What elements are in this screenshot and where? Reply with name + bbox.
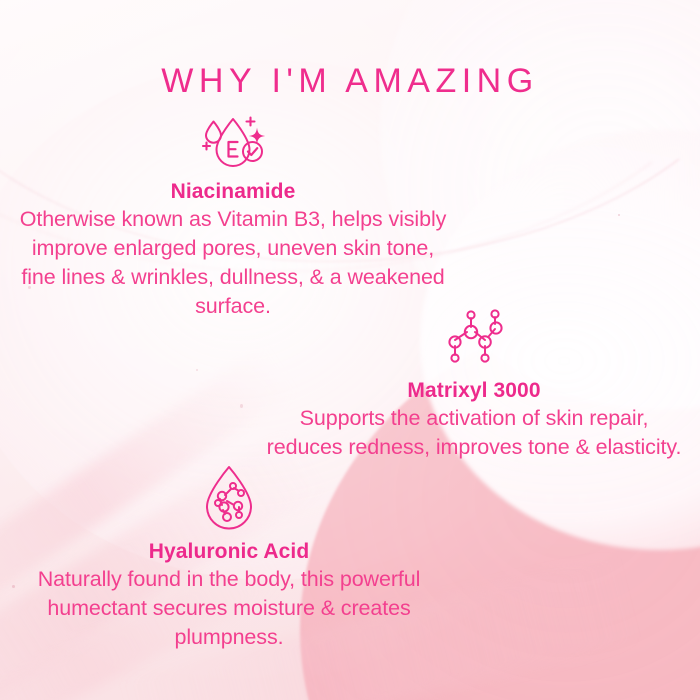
vitamin-e-droplet-icon [195,112,271,174]
ingredient-block-hyaluronic: Hyaluronic Acid Naturally found in the b… [14,462,444,652]
molecule-droplet-icon [198,462,260,534]
icon-container [14,462,444,534]
ingredient-heading: Matrixyl 3000 [262,379,686,403]
why-im-amazing-poster: WHY I'M AMAZING [0,0,700,700]
peptide-molecule-icon [443,305,505,371]
ingredient-description: Supports the activation of skin repair, … [262,404,686,462]
page-title: WHY I'M AMAZING [0,62,700,101]
ingredient-heading: Hyaluronic Acid [14,540,444,564]
ingredient-description: Otherwise known as Vitamin B3, helps vis… [18,205,448,321]
ingredient-block-matrixyl: Matrixyl 3000 Supports the activation of… [262,305,686,462]
poster-content: WHY I'M AMAZING [0,0,700,700]
icon-container [18,112,448,174]
ingredient-description: Naturally found in the body, this powerf… [14,565,444,652]
ingredient-heading: Niacinamide [18,180,448,204]
icon-container [262,305,686,371]
ingredient-block-niacinamide: Niacinamide Otherwise known as Vitamin B… [18,112,448,321]
